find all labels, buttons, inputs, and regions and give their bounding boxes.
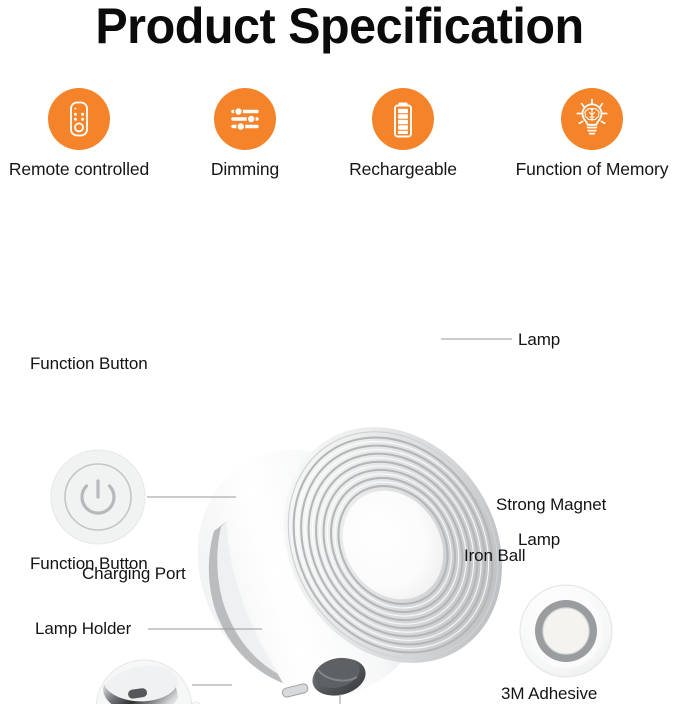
feature-list: Remote controlled Dimming <box>0 88 679 188</box>
dimmer-slider-icon <box>214 88 276 150</box>
label-strong-magnet: Strong Magnet <box>496 495 606 515</box>
lamp-body-illustration <box>152 385 546 704</box>
feature-remote-controlled: Remote controlled <box>0 88 164 180</box>
feature-rechargeable: Rechargeable <box>318 88 488 180</box>
strong-magnet-detail <box>520 585 612 677</box>
feature-function-of-memory: Function of Memory <box>507 88 677 180</box>
page-title: Product Specification <box>10 0 669 54</box>
label-3m-adhesive: 3M Adhesive <box>501 684 597 704</box>
feature-dimming: Dimming <box>160 88 330 180</box>
charging-port-detail <box>96 660 211 704</box>
battery-icon <box>372 88 434 150</box>
feature-label: Rechargeable <box>318 159 488 180</box>
product-specification-infographic: Product Specification Remote controlled <box>0 0 679 703</box>
remote-control-icon <box>48 88 110 150</box>
label-lamp-holder: Lamp Holder <box>35 619 131 639</box>
lightbulb-brain-icon <box>561 88 623 150</box>
function-button-detail <box>51 450 145 544</box>
label-lamp: Lamp <box>518 330 560 350</box>
feature-label: Function of Memory <box>507 159 677 180</box>
feature-label: Remote controlled <box>0 159 164 180</box>
label-function-button: Function Button <box>30 354 148 374</box>
label-charging-port: Charging Port <box>82 564 186 584</box>
feature-label: Dimming <box>160 159 330 180</box>
label-iron-ball: Iron Ball <box>464 546 525 566</box>
